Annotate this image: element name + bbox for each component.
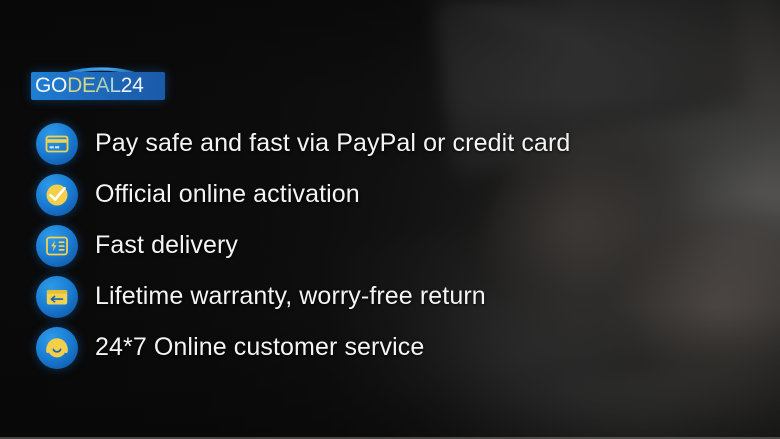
logo-text-go: GO: [35, 74, 67, 97]
banner-content: GODEAL24 Pay safe and fast via PayPal or…: [0, 0, 780, 439]
warranty-card-icon: [36, 276, 78, 318]
feature-label: Official online activation: [95, 180, 360, 209]
feature-row-delivery: Fast delivery: [0, 220, 780, 271]
godeal24-logo[interactable]: GODEAL24: [31, 58, 171, 104]
feature-label: Pay safe and fast via PayPal or credit c…: [95, 129, 570, 158]
feature-label: Lifetime warranty, worry-free return: [95, 282, 486, 311]
feature-row-support: 24*7 Online customer service: [0, 322, 780, 373]
logo-wordmark: GODEAL24: [35, 72, 169, 100]
headset-support-icon: [36, 327, 78, 369]
feature-row-warranty: Lifetime warranty, worry-free return: [0, 271, 780, 322]
feature-label: 24*7 Online customer service: [95, 333, 424, 362]
check-circle-icon: [36, 174, 78, 216]
promo-banner: GODEAL24 Pay safe and fast via PayPal or…: [0, 0, 780, 439]
lightning-bolt-icon: [36, 225, 78, 267]
feature-list: Pay safe and fast via PayPal or credit c…: [0, 118, 780, 373]
logo-text-deal: DEAL: [67, 74, 121, 97]
feature-row-activation: Official online activation: [0, 169, 780, 220]
logo-text-24: 24: [121, 74, 144, 97]
credit-card-icon: [36, 123, 78, 165]
feature-row-payment: Pay safe and fast via PayPal or credit c…: [0, 118, 780, 169]
feature-label: Fast delivery: [95, 231, 238, 260]
